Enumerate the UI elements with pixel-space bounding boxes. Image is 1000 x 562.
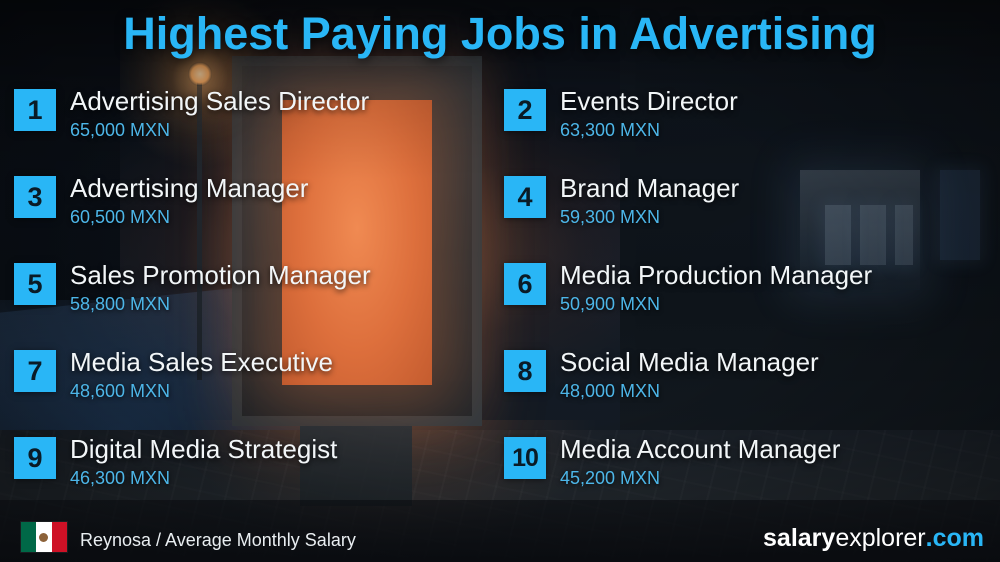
job-salary: 45,200 MXN [560, 467, 840, 489]
list-item: 6 Media Production Manager 50,900 MXN [502, 260, 992, 347]
content-layer: Highest Paying Jobs in Advertising 1 Adv… [0, 0, 1000, 562]
job-salary: 48,000 MXN [560, 380, 819, 402]
brand-part-domain: .com [926, 524, 984, 552]
rank-badge: 6 [504, 263, 546, 305]
rank-badge: 1 [14, 89, 56, 131]
list-item: 1 Advertising Sales Director 65,000 MXN [12, 86, 502, 173]
list-item: 2 Events Director 63,300 MXN [502, 86, 992, 173]
job-title: Sales Promotion Manager [70, 260, 371, 290]
mexico-flag-icon [20, 521, 68, 553]
list-item: 4 Brand Manager 59,300 MXN [502, 173, 992, 260]
rank-badge: 7 [14, 350, 56, 392]
list-item-texts: Social Media Manager 48,000 MXN [560, 347, 819, 402]
list-item: 5 Sales Promotion Manager 58,800 MXN [12, 260, 502, 347]
list-item: 9 Digital Media Strategist 46,300 MXN [12, 434, 502, 521]
rank-badge: 5 [14, 263, 56, 305]
rank-badge: 10 [504, 437, 546, 479]
list-item: 10 Media Account Manager 45,200 MXN [502, 434, 992, 521]
list-item: 3 Advertising Manager 60,500 MXN [12, 173, 502, 260]
job-salary: 58,800 MXN [70, 293, 371, 315]
rank-badge: 2 [504, 89, 546, 131]
job-title: Media Sales Executive [70, 347, 333, 377]
job-title: Advertising Manager [70, 173, 308, 203]
list-item-texts: Brand Manager 59,300 MXN [560, 173, 739, 228]
job-salary: 48,600 MXN [70, 380, 333, 402]
job-salary: 63,300 MXN [560, 119, 738, 141]
job-title: Media Account Manager [560, 434, 840, 464]
job-title: Advertising Sales Director [70, 86, 369, 116]
job-title: Events Director [560, 86, 738, 116]
rank-badge: 9 [14, 437, 56, 479]
job-title: Brand Manager [560, 173, 739, 203]
job-salary: 60,500 MXN [70, 206, 308, 228]
page-title: Highest Paying Jobs in Advertising [0, 8, 1000, 60]
job-list: 1 Advertising Sales Director 65,000 MXN … [12, 86, 988, 521]
brand-part-explorer: explorer [835, 524, 925, 552]
job-title: Digital Media Strategist [70, 434, 337, 464]
rank-badge: 3 [14, 176, 56, 218]
job-salary: 59,300 MXN [560, 206, 739, 228]
list-item-texts: Media Account Manager 45,200 MXN [560, 434, 840, 489]
job-salary: 50,900 MXN [560, 293, 872, 315]
list-item-texts: Advertising Sales Director 65,000 MXN [70, 86, 369, 141]
infographic-canvas: Highest Paying Jobs in Advertising 1 Adv… [0, 0, 1000, 562]
list-item-texts: Advertising Manager 60,500 MXN [70, 173, 308, 228]
rank-badge: 8 [504, 350, 546, 392]
list-item: 7 Media Sales Executive 48,600 MXN [12, 347, 502, 434]
list-item-texts: Digital Media Strategist 46,300 MXN [70, 434, 337, 489]
list-item: 8 Social Media Manager 48,000 MXN [502, 347, 992, 434]
job-title: Social Media Manager [560, 347, 819, 377]
job-salary: 65,000 MXN [70, 119, 369, 141]
brand-part-salary: salary [763, 524, 835, 552]
job-salary: 46,300 MXN [70, 467, 337, 489]
list-item-texts: Sales Promotion Manager 58,800 MXN [70, 260, 371, 315]
brand-logo[interactable]: salaryexplorer.com [763, 524, 984, 553]
list-item-texts: Events Director 63,300 MXN [560, 86, 738, 141]
list-item-texts: Media Sales Executive 48,600 MXN [70, 347, 333, 402]
rank-badge: 4 [504, 176, 546, 218]
footer-location-label: Reynosa / Average Monthly Salary [80, 530, 356, 551]
list-item-texts: Media Production Manager 50,900 MXN [560, 260, 872, 315]
job-title: Media Production Manager [560, 260, 872, 290]
